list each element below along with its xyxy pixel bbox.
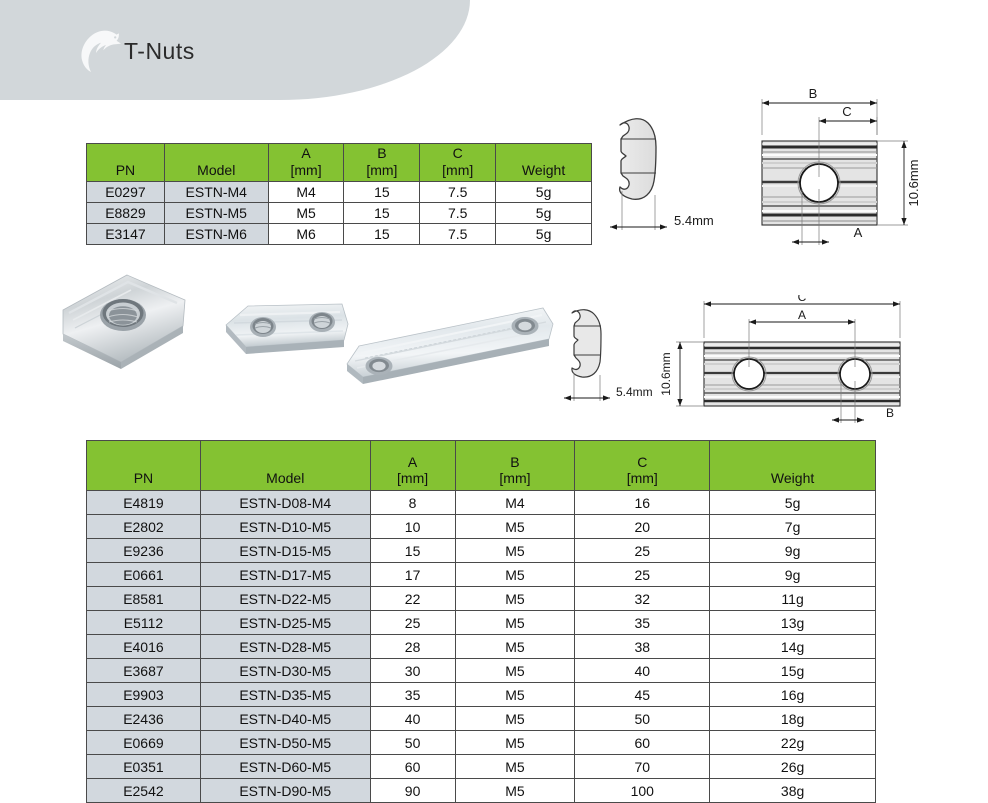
table-row: E0669ESTN-D50-M550M56022g [87,731,876,755]
cell-weight: 11g [710,587,876,611]
dim-c-label: C [842,104,851,119]
column-header-c: C [mm] [575,441,710,491]
cell-model: ESTN-D90-M5 [200,779,370,803]
cell-c: 7.5 [420,203,496,224]
cell-c: 16 [575,491,710,515]
cell-pn: E0669 [87,731,201,755]
cell-weight: 9g [710,539,876,563]
cell-c: 20 [575,515,710,539]
double-hole-t-nut-photo [220,292,355,377]
cell-weight: 16g [710,683,876,707]
cell-model: ESTN-M6 [164,224,268,245]
cell-a: 60 [370,755,455,779]
cell-b: M5 [455,515,575,539]
table-row: E4819ESTN-D08-M48M4165g [87,491,876,515]
t-nut-spec-table-short: PN Model A [mm] B [mm] C [mm] Weight E02… [86,143,592,245]
table-row: E9903ESTN-D35-M535M54516g [87,683,876,707]
cell-model: ESTN-M4 [164,182,268,203]
cell-pn: E5112 [87,611,201,635]
t-nut-spec-table-long: PN Model A [mm] B [mm] C [mm] Weight E48… [86,440,876,803]
cell-c: 50 [575,707,710,731]
cell-model: ESTN-D25-M5 [200,611,370,635]
cell-b: 15 [344,224,420,245]
side-view-thickness-label: 5.4mm [616,385,653,399]
cell-model: ESTN-D15-M5 [200,539,370,563]
cell-pn: E3687 [87,659,201,683]
cell-model: ESTN-M5 [164,203,268,224]
cell-model: ESTN-D40-M5 [200,707,370,731]
cell-c: 35 [575,611,710,635]
side-view-thickness-label: 5.4mm [674,213,714,228]
cell-pn: E0297 [87,182,165,203]
cell-pn: E0661 [87,563,201,587]
cell-c: 25 [575,563,710,587]
cell-pn: E2802 [87,515,201,539]
cell-pn: E9903 [87,683,201,707]
table-row: E3687ESTN-D30-M530M54015g [87,659,876,683]
cell-model: ESTN-D10-M5 [200,515,370,539]
cell-pn: E8829 [87,203,165,224]
cell-a: 35 [370,683,455,707]
cell-model: ESTN-D35-M5 [200,683,370,707]
cell-weight: 13g [710,611,876,635]
cell-b: M5 [455,707,575,731]
single-hole-t-nut-drawing: 5.4mm B [570,85,988,250]
table-row: E2436ESTN-D40-M540M55018g [87,707,876,731]
cell-pn: E2542 [87,779,201,803]
cell-weight: 22g [710,731,876,755]
column-header-a: A [mm] [370,441,455,491]
table-row: E0661ESTN-D17-M517M5259g [87,563,876,587]
table-row: E8829ESTN-M5M5157.55g [87,203,592,224]
cell-model: ESTN-D08-M4 [200,491,370,515]
column-header-a: A [mm] [268,144,344,182]
cell-c: 40 [575,659,710,683]
cell-weight: 14g [710,635,876,659]
column-header-weight: Weight [710,441,876,491]
cell-a: 30 [370,659,455,683]
cell-b: M5 [455,611,575,635]
column-header-model: Model [200,441,370,491]
table-header-row: PN Model A [mm] B [mm] C [mm] Weight [87,144,592,182]
cell-b: M5 [455,779,575,803]
cell-b: 15 [344,203,420,224]
table-row: E0297ESTN-M4M4157.55g [87,182,592,203]
cell-model: ESTN-D60-M5 [200,755,370,779]
cell-a: 28 [370,635,455,659]
page-title: T-Nuts [124,38,195,65]
table-row: E4016ESTN-D28-M528M53814g [87,635,876,659]
cell-b: M5 [455,731,575,755]
cell-weight: 18g [710,707,876,731]
cell-c: 60 [575,731,710,755]
cell-a: 50 [370,731,455,755]
cell-weight: 15g [710,659,876,683]
cell-pn: E3147 [87,224,165,245]
cell-a: 90 [370,779,455,803]
table2-body: E4819ESTN-D08-M48M4165gE2802ESTN-D10-M51… [87,491,876,803]
cell-b: M5 [455,539,575,563]
cell-pn: E4819 [87,491,201,515]
double-hole-t-nut-drawing: 5.4mm C A [560,295,988,430]
cell-c: 25 [575,539,710,563]
column-header-b: B [mm] [455,441,575,491]
cell-b: M4 [455,491,575,515]
table1-body: E0297ESTN-M4M4157.55gE8829ESTN-M5M5157.5… [87,182,592,245]
cell-weight: 7g [710,515,876,539]
cell-b: M5 [455,683,575,707]
cell-pn: E4016 [87,635,201,659]
cell-b: M5 [455,659,575,683]
cell-pn: E2436 [87,707,201,731]
cell-pn: E8581 [87,587,201,611]
cell-c: 32 [575,587,710,611]
cell-weight: 5g [710,491,876,515]
dim-height-label: 10.6mm [659,352,673,395]
cell-a: M5 [268,203,344,224]
cell-model: ESTN-D50-M5 [200,731,370,755]
cell-model: ESTN-D22-M5 [200,587,370,611]
table-row: E3147ESTN-M6M6157.55g [87,224,592,245]
cell-a: M6 [268,224,344,245]
product-photo-group [55,260,565,400]
column-header-b: B [mm] [344,144,420,182]
table-row: E9236ESTN-D15-M515M5259g [87,539,876,563]
dolphin-logo-icon [74,24,124,76]
cell-pn: E9236 [87,539,201,563]
cell-pn: E0351 [87,755,201,779]
cell-a: 22 [370,587,455,611]
cell-weight: 26g [710,755,876,779]
column-header-model: Model [164,144,268,182]
dim-height-label: 10.6mm [906,160,921,207]
cell-a: 15 [370,539,455,563]
dim-c-label: C [798,295,807,304]
cell-b: M5 [455,587,575,611]
cell-weight: 38g [710,779,876,803]
cell-weight: 9g [710,563,876,587]
long-bar-t-nut-photo [337,298,567,393]
single-hole-t-nut-photo [55,270,190,380]
dim-a-label: A [798,308,806,322]
cell-a: M4 [268,182,344,203]
table-row: E5112ESTN-D25-M525M53513g [87,611,876,635]
header-banner: T-Nuts [0,0,470,100]
cell-b: M5 [455,755,575,779]
cell-a: 10 [370,515,455,539]
cell-b: 15 [344,182,420,203]
table-row: E2542ESTN-D90-M590M510038g [87,779,876,803]
cell-c: 45 [575,683,710,707]
cell-c: 7.5 [420,224,496,245]
cell-c: 100 [575,779,710,803]
dim-a-label: A [854,225,863,240]
cell-c: 38 [575,635,710,659]
table-row: E0351ESTN-D60-M560M57026g [87,755,876,779]
table-header-row: PN Model A [mm] B [mm] C [mm] Weight [87,441,876,491]
cell-model: ESTN-D28-M5 [200,635,370,659]
cell-a: 40 [370,707,455,731]
cell-a: 25 [370,611,455,635]
cell-b: M5 [455,635,575,659]
cell-c: 70 [575,755,710,779]
dim-b-label: B [886,406,894,420]
column-header-pn: PN [87,144,165,182]
cell-b: M5 [455,563,575,587]
cell-c: 7.5 [420,182,496,203]
cell-a: 8 [370,491,455,515]
table-row: E2802ESTN-D10-M510M5207g [87,515,876,539]
dim-b-label: B [809,86,818,101]
table-row: E8581ESTN-D22-M522M53211g [87,587,876,611]
cell-model: ESTN-D17-M5 [200,563,370,587]
column-header-c: C [mm] [420,144,496,182]
column-header-pn: PN [87,441,201,491]
cell-model: ESTN-D30-M5 [200,659,370,683]
cell-a: 17 [370,563,455,587]
